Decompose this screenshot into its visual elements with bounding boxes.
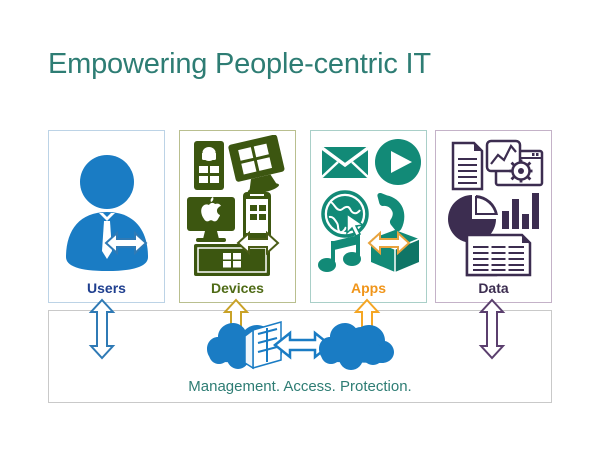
panel-devices[interactable]: Devices bbox=[179, 130, 296, 303]
hybrid-cloud-graphic bbox=[205, 316, 395, 378]
slide-canvas: Empowering People-centric IT Users bbox=[0, 0, 600, 450]
data-icon-group bbox=[436, 135, 553, 279]
data-icon-area bbox=[436, 135, 551, 279]
panel-label-users: Users bbox=[49, 280, 164, 296]
cloud-datacenter-icon bbox=[207, 322, 282, 369]
envelope-mail-icon bbox=[322, 147, 368, 178]
bar-chart-icon bbox=[502, 193, 539, 229]
apps-data-arrow bbox=[367, 228, 411, 258]
spreadsheet-table-icon bbox=[467, 235, 530, 275]
gear-icon bbox=[510, 160, 533, 183]
panel-row: Users bbox=[48, 130, 552, 303]
panel-label-data: Data bbox=[436, 280, 551, 296]
android-tablet-icon bbox=[194, 141, 224, 190]
music-note-icon bbox=[318, 235, 361, 272]
play-video-icon bbox=[375, 139, 421, 185]
document-lines-icon bbox=[453, 143, 482, 189]
panel-users[interactable]: Users bbox=[48, 130, 165, 303]
cloud-icon bbox=[319, 323, 394, 370]
data-management-arrow bbox=[478, 298, 506, 360]
page-title: Empowering People-centric IT bbox=[48, 48, 431, 81]
devices-apps-arrow bbox=[236, 228, 280, 258]
windows-monitor-icon bbox=[228, 135, 289, 198]
apple-imac-icon bbox=[187, 197, 235, 242]
panel-label-devices: Devices bbox=[180, 280, 295, 296]
users-devices-arrow bbox=[104, 228, 148, 258]
panel-data[interactable]: Data bbox=[435, 130, 552, 303]
management-caption: Management. Access. Protection. bbox=[49, 378, 551, 395]
users-management-arrow bbox=[88, 298, 116, 360]
panel-apps[interactable]: Apps bbox=[310, 130, 427, 303]
chart-window-gear-icon bbox=[487, 141, 542, 185]
phone-handset-icon bbox=[371, 192, 409, 232]
panel-label-apps: Apps bbox=[311, 280, 426, 296]
globe-browser-icon bbox=[323, 192, 367, 236]
